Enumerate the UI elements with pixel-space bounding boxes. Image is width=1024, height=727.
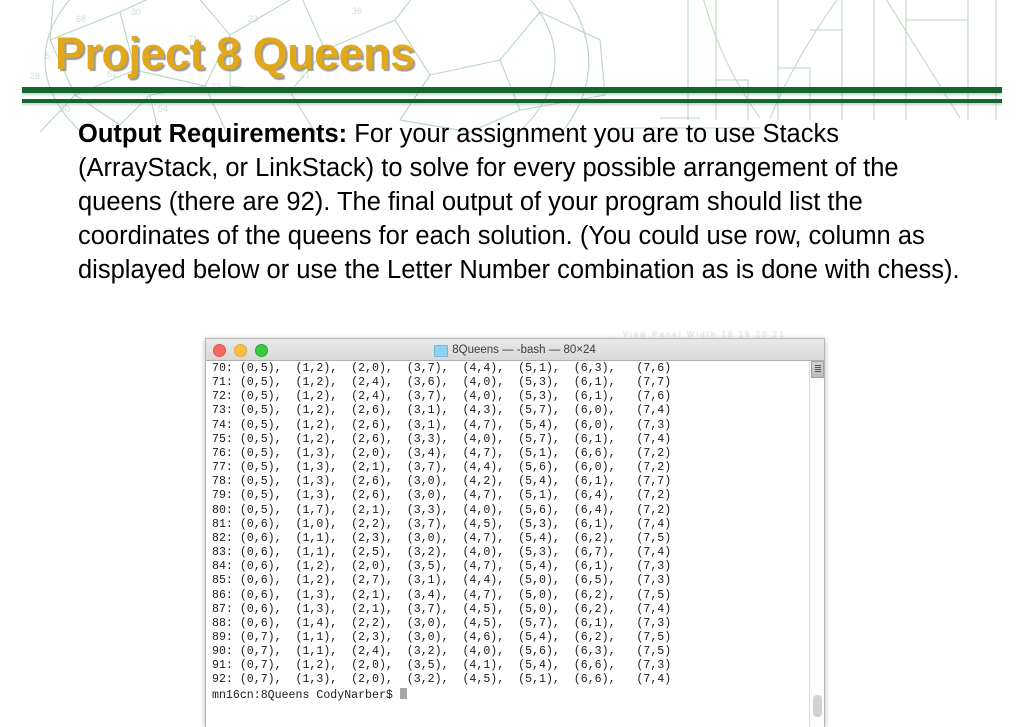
terminal-body[interactable]: 70: (0,5), (1,2), (2,0), (3,7), (4,4), (…: [206, 361, 824, 727]
svg-text:80: 80: [60, 104, 70, 114]
page-title: Project 8 Queens: [55, 28, 415, 80]
maximize-button[interactable]: [255, 344, 268, 357]
folder-icon: [434, 345, 448, 357]
scrollbar-thumb-lower[interactable]: [813, 695, 822, 717]
terminal-cursor: [400, 688, 407, 699]
terminal-output: 70: (0,5), (1,2), (2,0), (3,7), (4,4), (…: [212, 362, 671, 703]
terminal-solutions-text: 70: (0,5), (1,2), (2,0), (3,7), (4,4), (…: [212, 362, 671, 686]
svg-text:54: 54: [158, 104, 168, 114]
terminal-scrollbar[interactable]: [809, 361, 824, 727]
minimize-button[interactable]: [234, 344, 247, 357]
terminal-title-text: 8Queens — -bash — 80×24: [452, 344, 596, 356]
terminal-titlebar[interactable]: 8Queens — -bash — 80×24: [206, 339, 824, 361]
body-paragraph: Output Requirements: For your assignment…: [78, 117, 968, 287]
window-controls[interactable]: [213, 339, 268, 361]
scrollbar-thumb[interactable]: [811, 361, 824, 378]
terminal-title: 8Queens — -bash — 80×24: [206, 344, 824, 356]
divider-rule-thin: [22, 99, 1002, 103]
terminal-window[interactable]: 8Queens — -bash — 80×24 70: (0,5), (1,2)…: [205, 338, 825, 727]
body-lead-label: Output Requirements:: [78, 120, 347, 148]
close-button[interactable]: [213, 344, 226, 357]
divider-rule-thick: [22, 87, 1002, 93]
terminal-prompt: mn16cn:8Queens CodyNarber$: [212, 689, 400, 702]
title-area: Project 8 Queens: [0, 0, 1024, 100]
slide-canvas: 68 30 23 36 5 28 71 61 51 72 80 54: [0, 0, 1024, 727]
